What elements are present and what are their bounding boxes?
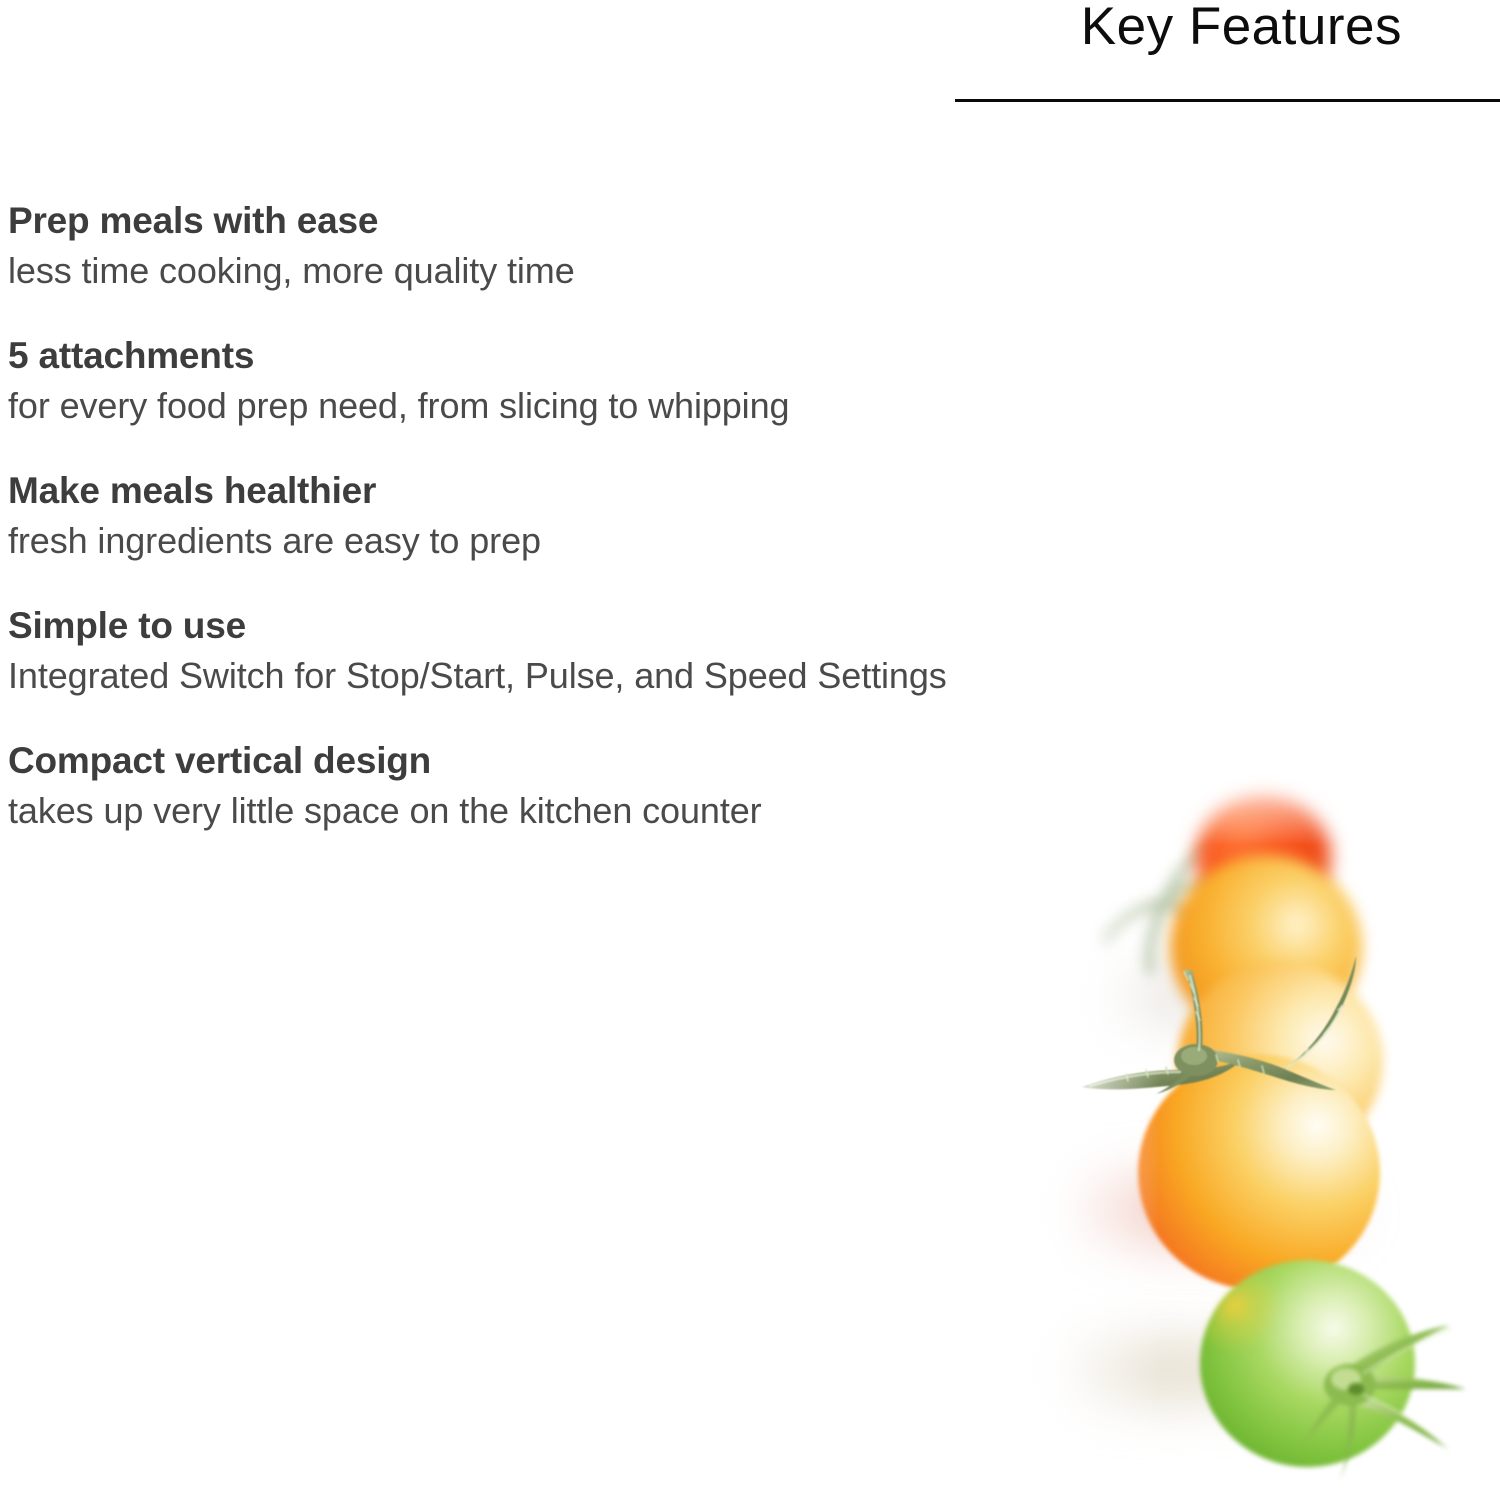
tomatoes-photo [1010,755,1500,1490]
feature-item: Simple to use Integrated Switch for Stop… [8,601,1238,701]
feature-item: 5 attachments for every food prep need, … [8,331,1238,431]
feature-description: less time cooking, more quality time [8,245,1068,296]
page-title: Key Features [1081,0,1402,58]
feature-title: Make meals healthier [8,466,1238,515]
feature-item: Prep meals with ease less time cooking, … [8,196,1238,296]
feature-description: fresh ingredients are easy to prep [8,515,1068,566]
feature-title: 5 attachments [8,331,1238,380]
title-divider [955,99,1500,102]
feature-item: Make meals healthier fresh ingredients a… [8,466,1238,566]
key-features-panel: Key Features Prep meals with ease less t… [0,0,1500,1490]
header: Key Features [0,0,1500,130]
feature-description: takes up very little space on the kitche… [8,785,1068,836]
photo-left-fade [1010,755,1160,1490]
feature-description: Integrated Switch for Stop/Start, Pulse,… [8,650,1068,701]
feature-description: for every food prep need, from slicing t… [8,380,1068,431]
green-tomato-calyx-icon [1278,1303,1500,1490]
feature-title: Prep meals with ease [8,196,1238,245]
feature-title: Simple to use [8,601,1238,650]
